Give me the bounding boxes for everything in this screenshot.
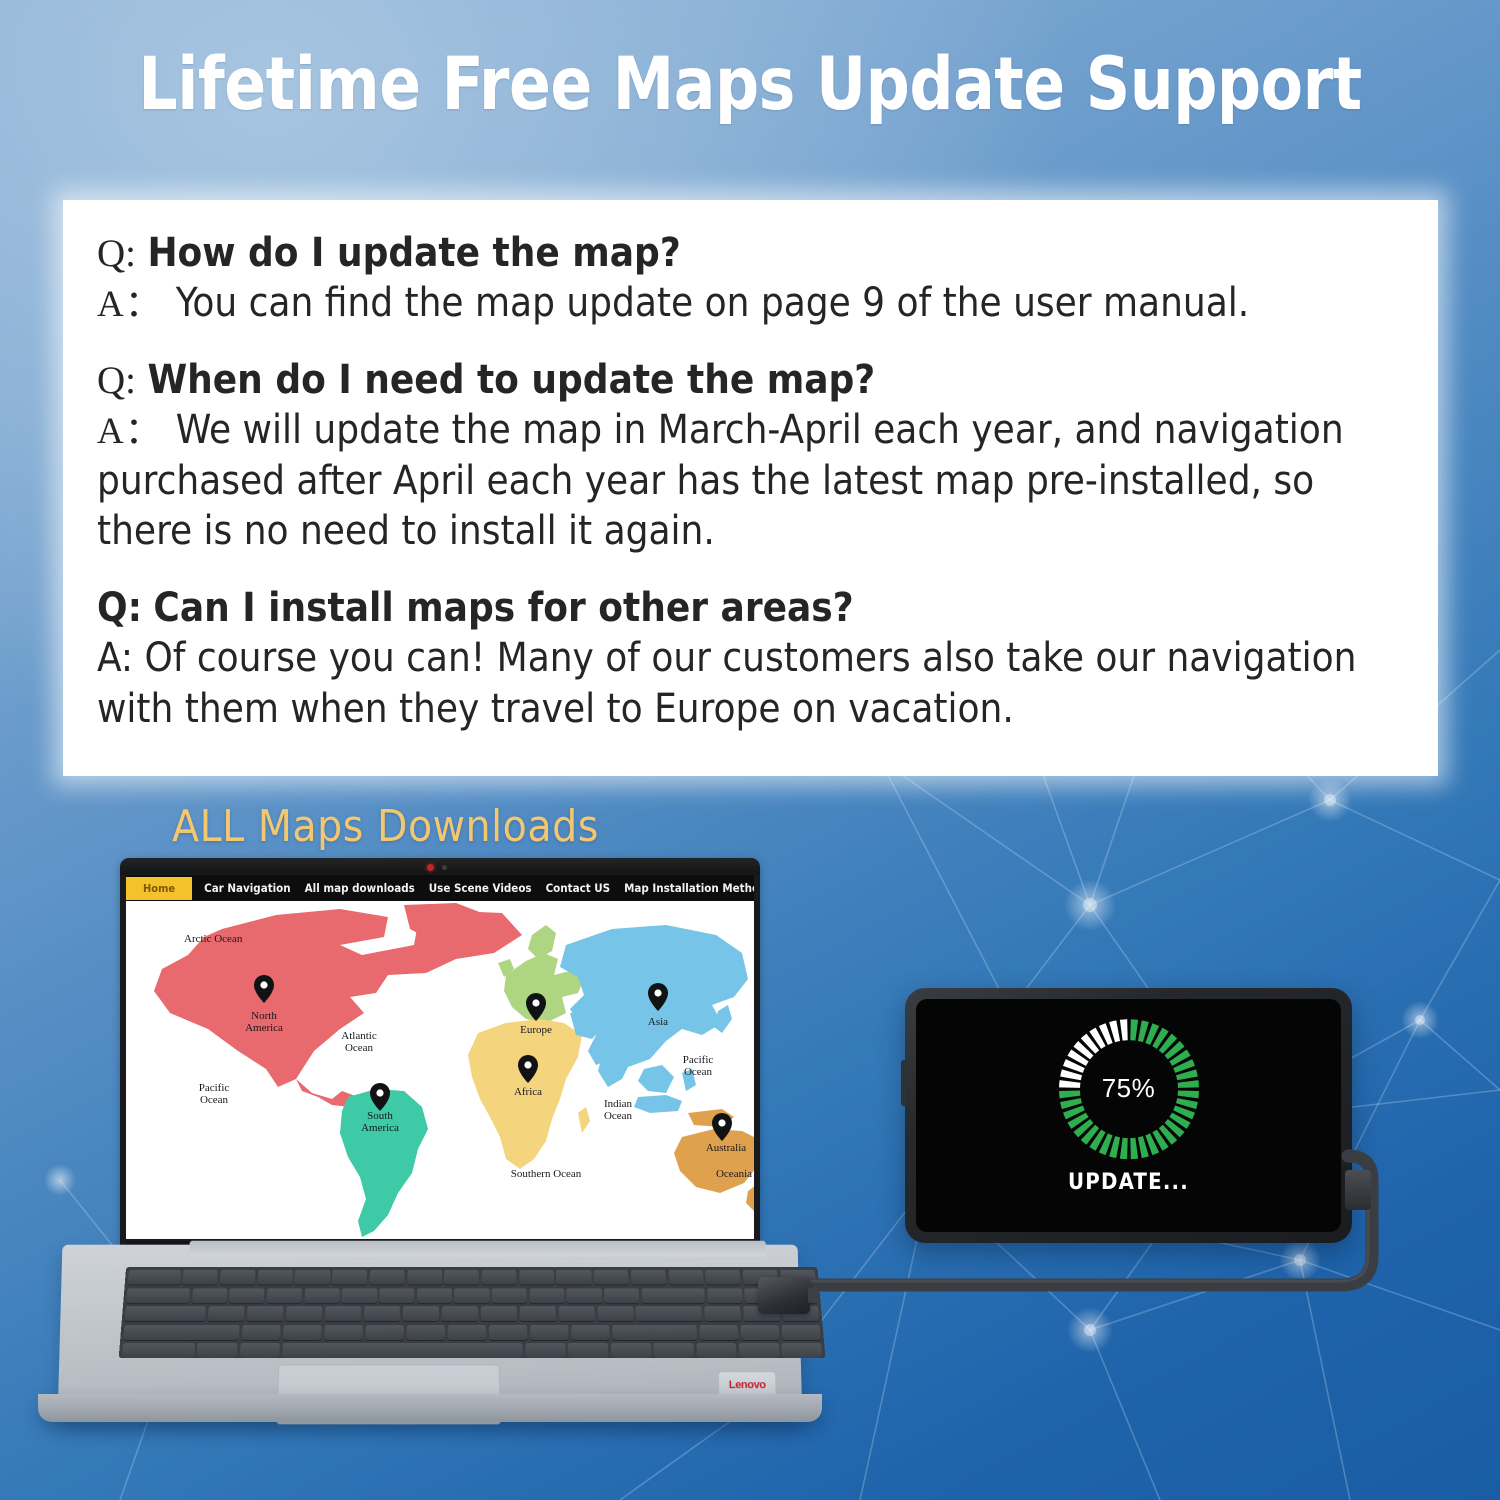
faq-answer-row-2: A：We will update the map in March-April … xyxy=(97,405,1404,556)
faq-item-3: Q: Can I install maps for other areas? A… xyxy=(97,583,1404,734)
label-europe: Europe xyxy=(520,1024,552,1036)
answer-label-3: A: xyxy=(97,635,133,681)
label-atlantic-ocean-2: Ocean xyxy=(345,1042,374,1054)
nav-item-contact-us[interactable]: Contact US xyxy=(546,881,611,895)
usb-cable xyxy=(700,1080,1500,1400)
label-indian-ocean-2: Ocean xyxy=(604,1110,633,1122)
label-pacific-ocean-east-2: Ocean xyxy=(684,1066,713,1078)
label-pacific-ocean-west-2: Ocean xyxy=(200,1094,229,1106)
all-maps-downloads-caption: ALL Maps Downloads xyxy=(172,801,599,852)
browser-nav-bar: Home Car Navigation All map downloads Us… xyxy=(126,875,754,901)
page-header: Lifetime Free Maps Update Support xyxy=(0,42,1500,127)
webcam-indicator-icon xyxy=(427,864,434,871)
faq-item-1: Q: How do I update the map? A：You can fi… xyxy=(97,228,1404,329)
answer-label-2: A： xyxy=(97,411,163,452)
label-south-america-1: South xyxy=(367,1110,393,1122)
faq-question-row-3: Q: Can I install maps for other areas? xyxy=(97,583,1404,633)
laptop-hinge xyxy=(189,1241,766,1257)
laptop-lid: Home Car Navigation All map downloads Us… xyxy=(120,858,760,1253)
faq-answer-row-3: A: Of course you can! Many of our custom… xyxy=(97,633,1404,734)
laptop-screen: Arctic Ocean North America Atlantic Ocea… xyxy=(126,901,754,1239)
label-pacific-ocean-east-1: Pacific xyxy=(683,1054,714,1066)
faq-question-row-1: Q: How do I update the map? xyxy=(97,228,1404,278)
faq-answer-row-1: A：You can find the map update on page 9 … xyxy=(97,278,1404,329)
nav-item-map-installation-method[interactable]: Map Installation Method xyxy=(624,881,754,895)
label-north-america-1: North xyxy=(251,1010,277,1022)
usb-connector-device-side xyxy=(1345,1170,1371,1210)
nav-item-car-navigation[interactable]: Car Navigation xyxy=(204,881,291,895)
question-label-1: Q: xyxy=(97,232,136,275)
question-text-2: When do I need to update the map? xyxy=(147,357,875,403)
question-text-1: How do I update the map? xyxy=(147,230,680,276)
usb-connector-laptop-side xyxy=(758,1277,810,1314)
faq-question-row-2: Q: When do I need to update the map? xyxy=(97,355,1404,405)
answer-text-3: Of course you can! Many of our customers… xyxy=(97,635,1356,731)
nav-item-home[interactable]: Home xyxy=(126,877,192,900)
page-title: Lifetime Free Maps Update Support xyxy=(45,42,1455,127)
label-southern-ocean: Southern Ocean xyxy=(511,1168,582,1180)
faq-item-2: Q: When do I need to update the map? A：W… xyxy=(97,355,1404,557)
question-label-3: Q: xyxy=(97,585,142,631)
nav-item-use-scene-videos[interactable]: Use Scene Videos xyxy=(429,881,532,895)
label-indian-ocean-1: Indian xyxy=(604,1098,633,1110)
label-pacific-ocean-west-1: Pacific xyxy=(199,1082,230,1094)
faq-panel: Q: How do I update the map? A：You can fi… xyxy=(63,200,1438,776)
label-africa: Africa xyxy=(514,1086,542,1098)
label-atlantic-ocean-1: Atlantic xyxy=(341,1030,377,1042)
label-north-america-2: America xyxy=(245,1022,283,1034)
webcam-lens-icon xyxy=(442,865,447,870)
question-label-2: Q: xyxy=(97,359,136,402)
label-asia: Asia xyxy=(648,1016,668,1028)
answer-label-1: A： xyxy=(97,284,163,325)
label-arctic-ocean: Arctic Ocean xyxy=(184,933,243,945)
label-south-america-2: America xyxy=(361,1122,399,1134)
nav-item-all-map-downloads[interactable]: All map downloads xyxy=(305,881,415,895)
world-map: Arctic Ocean North America Atlantic Ocea… xyxy=(126,901,754,1239)
laptop-top-bezel xyxy=(120,858,760,874)
question-text-3: Can I install maps for other areas? xyxy=(153,585,853,631)
answer-text-1: You can find the map update on page 9 of… xyxy=(176,280,1249,326)
answer-text-2: We will update the map in March-April ea… xyxy=(97,407,1344,554)
